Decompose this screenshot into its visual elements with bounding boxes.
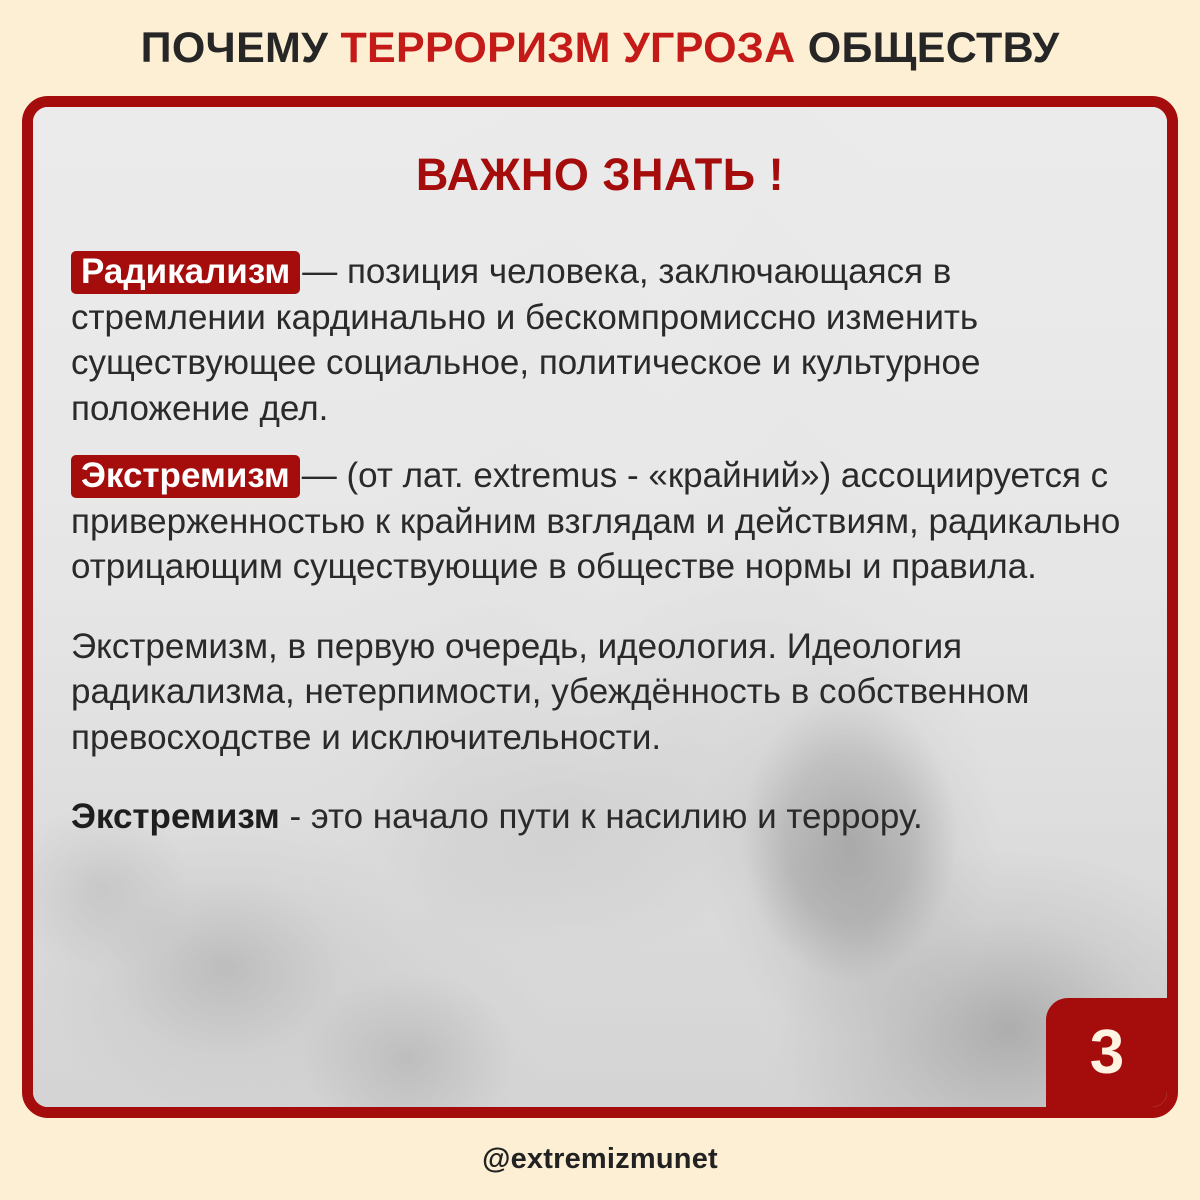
page-title: ПОЧЕМУ ТЕРРОРИЗМ УГРОЗА ОБЩЕСТВУ	[141, 27, 1060, 70]
definition-paragraph-radicalism: Радикализм— позиция человека, заключающа…	[71, 249, 1129, 431]
page-number-badge: 3	[1046, 998, 1168, 1108]
social-handle: @extremizmunet	[482, 1143, 718, 1176]
page-header: ПОЧЕМУ ТЕРРОРИЗМ УГРОЗА ОБЩЕСТВУ	[0, 0, 1200, 96]
closing-statement-text: - это начало пути к насилию и террору.	[280, 797, 923, 836]
content-card: ВАЖНО ЗНАТЬ ! Радикализм— позиция челове…	[22, 96, 1178, 1118]
card-wrapper: ВАЖНО ЗНАТЬ ! Радикализм— позиция челове…	[22, 96, 1178, 1118]
card-heading: ВАЖНО ЗНАТЬ !	[71, 149, 1129, 201]
ideology-paragraph-text: Экстремизм, в первую очередь, идеология.…	[71, 627, 1029, 757]
ideology-paragraph: Экстремизм, в первую очередь, идеология.…	[71, 624, 1129, 761]
page-title-part2: ОБЩЕСТВУ	[795, 24, 1059, 72]
infographic-page: { "colors": { "page_background": "#FCEFD…	[0, 0, 1200, 1200]
closing-statement-paragraph: Экстремизм - это начало пути к насилию и…	[71, 794, 1129, 840]
page-title-part1: ПОЧЕМУ	[141, 24, 341, 72]
card-content: ВАЖНО ЗНАТЬ ! Радикализм— позиция челове…	[33, 107, 1167, 1107]
page-footer: @extremizmunet	[0, 1118, 1200, 1200]
page-title-accent: ТЕРРОРИЗМ УГРОЗА	[340, 24, 795, 72]
term-badge-extremism: Экстремизм	[71, 455, 300, 498]
definition-paragraph-extremism: Экстремизм— (от лат. extremus - «крайний…	[71, 453, 1129, 590]
closing-statement-term: Экстремизм	[71, 797, 280, 836]
term-badge-radicalism: Радикализм	[71, 251, 300, 294]
